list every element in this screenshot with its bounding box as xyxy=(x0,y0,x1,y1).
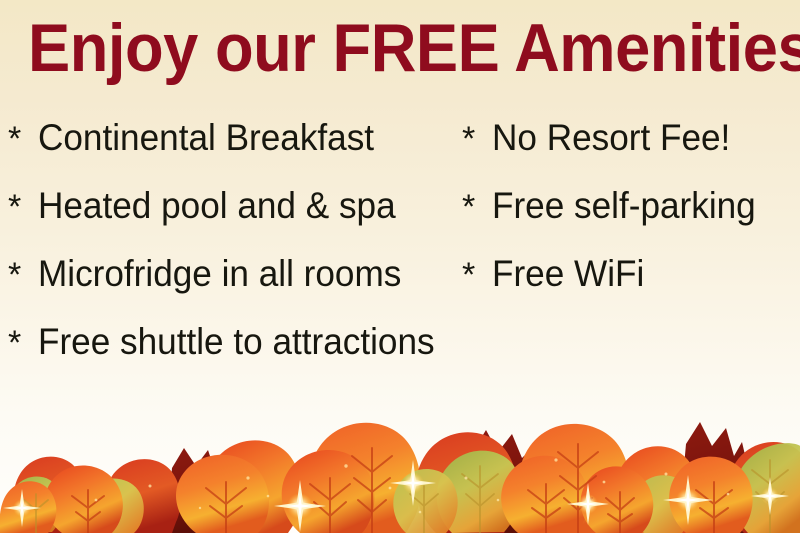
amenity-label: Microfridge in all rooms xyxy=(38,240,401,308)
asterisk-bullet-icon: * xyxy=(462,105,492,173)
amenity-item-continental-breakfast: * Continental Breakfast xyxy=(8,104,458,172)
page-title: Enjoy our FREE Amenities xyxy=(28,8,772,88)
amenities-banner: Enjoy our FREE Amenities * Continental B… xyxy=(0,0,800,533)
amenity-item-free-self-parking: * Free self-parking xyxy=(462,172,800,240)
amenity-label: Free shuttle to attractions xyxy=(38,308,435,376)
amenity-column-right: * No Resort Fee! * Free self-parking * F… xyxy=(462,104,800,308)
asterisk-bullet-icon: * xyxy=(462,173,492,241)
amenity-label: Heated pool and & spa xyxy=(38,172,396,240)
amenity-label: Continental Breakfast xyxy=(38,104,374,172)
amenity-item-microfridge: * Microfridge in all rooms xyxy=(8,240,458,308)
amenity-item-free-shuttle: * Free shuttle to attractions xyxy=(8,308,458,376)
amenity-label: No Resort Fee! xyxy=(492,104,730,172)
autumn-leaf-border-icon xyxy=(0,408,800,533)
asterisk-bullet-icon: * xyxy=(8,309,38,377)
amenities-list: * Continental Breakfast * Heated pool an… xyxy=(0,104,800,414)
asterisk-bullet-icon: * xyxy=(462,241,492,309)
asterisk-bullet-icon: * xyxy=(8,241,38,309)
amenity-item-free-wifi: * Free WiFi xyxy=(462,240,800,308)
asterisk-bullet-icon: * xyxy=(8,105,38,173)
amenity-item-no-resort-fee: * No Resort Fee! xyxy=(462,104,800,172)
amenity-column-left: * Continental Breakfast * Heated pool an… xyxy=(8,104,458,376)
asterisk-bullet-icon: * xyxy=(8,173,38,241)
banner-header: Enjoy our FREE Amenities xyxy=(0,0,800,100)
amenity-label: Free self-parking xyxy=(492,172,756,240)
amenity-item-heated-pool: * Heated pool and & spa xyxy=(8,172,458,240)
amenity-label: Free WiFi xyxy=(492,240,644,308)
